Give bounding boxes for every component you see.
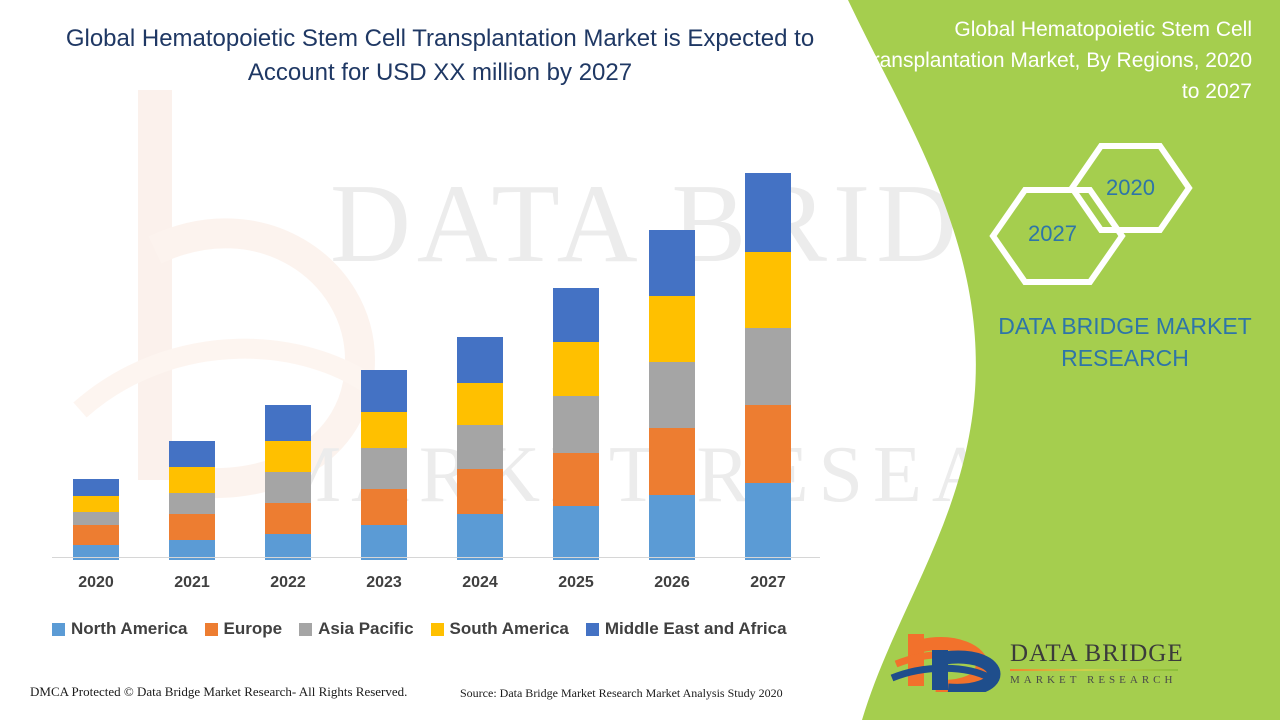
bar-segment[interactable]	[361, 370, 407, 411]
x-axis-label-2027: 2027	[738, 574, 798, 592]
legend-label: North America	[71, 619, 188, 639]
bar-segment[interactable]	[169, 493, 215, 514]
bar-segment[interactable]	[265, 503, 311, 534]
dmca-notice: DMCA Protected © Data Bridge Market Rese…	[30, 684, 407, 700]
bar-2022[interactable]	[265, 405, 311, 560]
x-axis-label-2020: 2020	[66, 574, 126, 592]
bar-2026[interactable]	[649, 230, 695, 560]
bar-segment[interactable]	[265, 405, 311, 441]
bar-segment[interactable]	[169, 467, 215, 493]
bar-segment[interactable]	[73, 496, 119, 511]
bar-segment[interactable]	[745, 252, 791, 327]
bar-segment[interactable]	[649, 428, 695, 495]
legend-label: Asia Pacific	[318, 619, 413, 639]
bar-segment[interactable]	[649, 230, 695, 296]
bar-segment[interactable]	[457, 383, 503, 424]
bar-segment[interactable]	[457, 469, 503, 514]
legend-label: Europe	[224, 619, 283, 639]
bar-segment[interactable]	[361, 525, 407, 560]
bar-segment[interactable]	[649, 362, 695, 429]
bar-segment[interactable]	[553, 396, 599, 453]
bar-segment[interactable]	[745, 405, 791, 482]
logo-main-text: DATA BRIDGE	[1010, 640, 1210, 668]
bar-2021[interactable]	[169, 441, 215, 560]
x-axis-label-2025: 2025	[546, 574, 606, 592]
brand-name: DATA BRIDGE MARKET RESEARCH	[960, 310, 1280, 374]
legend-item[interactable]: Europe	[205, 619, 283, 639]
bar-segment[interactable]	[553, 288, 599, 343]
logo-sub-text: MARKET RESEARCH	[1010, 674, 1210, 686]
bar-segment[interactable]	[361, 448, 407, 489]
bar-segment[interactable]	[457, 425, 503, 470]
bar-2027[interactable]	[745, 173, 791, 560]
bar-segment[interactable]	[745, 173, 791, 252]
bar-2023[interactable]	[361, 370, 407, 560]
bar-segment[interactable]	[73, 525, 119, 544]
bar-segment[interactable]	[553, 453, 599, 506]
x-axis-label-2023: 2023	[354, 574, 414, 592]
bar-segment[interactable]	[265, 441, 311, 472]
infographic-canvas: DATA BRIDGE MARKET RESEARCH Global Hemat…	[0, 0, 1280, 720]
bar-segment[interactable]	[553, 342, 599, 396]
chart-title: Global Hematopoietic Stem Cell Transplan…	[60, 22, 820, 90]
data-bridge-logo-text: DATA BRIDGE MARKET RESEARCH	[1010, 640, 1210, 686]
bar-segment[interactable]	[361, 412, 407, 448]
bar-segment[interactable]	[649, 296, 695, 361]
bar-2020[interactable]	[73, 479, 119, 560]
bar-segment[interactable]	[745, 483, 791, 560]
panel-title: Global Hematopoietic Stem Cell Transplan…	[842, 14, 1252, 107]
bar-2025[interactable]	[553, 288, 599, 560]
legend-swatch-icon	[205, 623, 218, 636]
bar-segment[interactable]	[169, 514, 215, 540]
bar-segment[interactable]	[745, 328, 791, 405]
bar-segment[interactable]	[457, 337, 503, 383]
x-axis-label-2024: 2024	[450, 574, 510, 592]
legend-item[interactable]: Middle East and Africa	[586, 619, 787, 639]
stacked-bar-plot	[52, 170, 822, 560]
legend-label: South America	[450, 619, 569, 639]
hex-label-2027: 2027	[1028, 221, 1077, 247]
bar-segment[interactable]	[649, 495, 695, 560]
legend-swatch-icon	[586, 623, 599, 636]
legend-swatch-icon	[299, 623, 312, 636]
bar-segment[interactable]	[73, 479, 119, 496]
legend-swatch-icon	[52, 623, 65, 636]
x-axis-line	[52, 557, 820, 558]
bar-segment[interactable]	[553, 506, 599, 560]
legend-item[interactable]: Asia Pacific	[299, 619, 413, 639]
hex-label-2020: 2020	[1106, 175, 1155, 201]
legend-label: Middle East and Africa	[605, 619, 787, 639]
x-axis-label-2021: 2021	[162, 574, 222, 592]
bar-segment[interactable]	[73, 512, 119, 526]
bar-segment[interactable]	[361, 489, 407, 525]
legend-swatch-icon	[431, 623, 444, 636]
x-axis-label-2022: 2022	[258, 574, 318, 592]
bar-segment[interactable]	[169, 441, 215, 467]
x-axis-label-2026: 2026	[642, 574, 702, 592]
bar-segment[interactable]	[265, 472, 311, 503]
source-note: Source: Data Bridge Market Research Mark…	[460, 686, 783, 701]
legend-item[interactable]: North America	[52, 619, 188, 639]
bar-2024[interactable]	[457, 337, 503, 560]
logo-divider	[1010, 669, 1178, 671]
hexagon-badges: 2020 2027	[980, 140, 1210, 285]
chart-legend: North AmericaEuropeAsia PacificSouth Ame…	[52, 616, 842, 642]
bar-segment[interactable]	[457, 514, 503, 560]
x-axis-labels: 20202021202220232024202520262027	[52, 574, 822, 600]
legend-item[interactable]: South America	[431, 619, 569, 639]
